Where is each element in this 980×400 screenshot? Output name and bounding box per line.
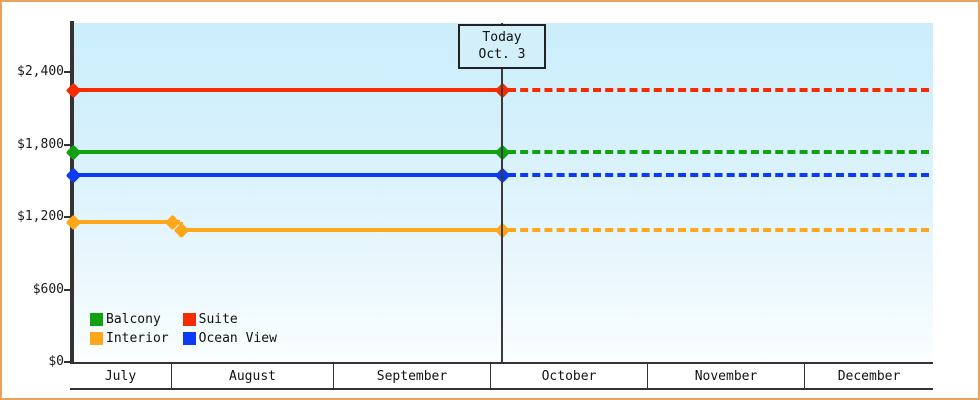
series-line-interior <box>181 228 504 232</box>
y-axis-label-wrap: $1,200 <box>2 210 64 224</box>
x-axis-month-october[interactable]: October <box>491 364 648 388</box>
series-projection-ocean-view <box>508 173 929 177</box>
x-axis-month-december[interactable]: December <box>805 364 933 388</box>
y-axis-label-wrap: $600 <box>2 283 64 297</box>
legend-swatch-ocean-view <box>183 332 196 345</box>
series-line-interior <box>73 220 172 224</box>
y-axis-tick <box>64 71 72 73</box>
legend-item-suite[interactable]: Suite <box>183 312 277 327</box>
y-axis-tick-label: $0 <box>2 355 64 368</box>
legend-swatch-interior <box>90 332 103 345</box>
y-axis-tick <box>64 144 72 146</box>
today-vertical-line <box>501 23 503 362</box>
series-line-ocean-view <box>73 173 503 177</box>
y-axis-label-wrap: $1,800 <box>2 138 64 152</box>
legend-label-suite: Suite <box>199 312 238 327</box>
legend-item-interior[interactable]: Interior <box>90 331 169 346</box>
today-label-line2: Oct. 3 <box>470 46 534 63</box>
y-axis-tick <box>64 361 72 363</box>
x-axis-month-july[interactable]: July <box>70 364 172 388</box>
x-axis-month-september[interactable]: September <box>334 364 491 388</box>
y-axis-label-wrap: $0 <box>2 355 64 369</box>
legend-label-ocean-view: Ocean View <box>199 331 277 346</box>
series-projection-balcony <box>508 150 929 154</box>
chart-legend: BalconySuiteInteriorOcean View <box>90 312 277 346</box>
y-axis-tick-label: $600 <box>2 283 64 296</box>
today-annotation-box: Today Oct. 3 <box>458 24 546 69</box>
y-axis-tick-label: $1,200 <box>2 210 64 223</box>
legend-label-interior: Interior <box>106 331 169 346</box>
price-trend-chart: $0$600$1,200$1,800$2,400 Today Oct. 3 Ba… <box>0 0 980 400</box>
x-axis-month-row: JulyAugustSeptemberOctoberNovemberDecemb… <box>70 364 933 390</box>
y-axis-label-wrap: $2,400 <box>2 65 64 79</box>
today-label-line1: Today <box>470 29 534 46</box>
series-line-balcony <box>73 150 503 154</box>
legend-swatch-balcony <box>90 313 103 326</box>
y-axis-tick <box>64 289 72 291</box>
x-axis-month-august[interactable]: August <box>172 364 334 388</box>
y-axis-tick-label: $1,800 <box>2 138 64 151</box>
legend-label-balcony: Balcony <box>106 312 161 327</box>
y-axis-tick-label: $2,400 <box>2 65 64 78</box>
series-projection-interior <box>508 228 929 232</box>
legend-swatch-suite <box>183 313 196 326</box>
legend-item-balcony[interactable]: Balcony <box>90 312 169 327</box>
x-axis-month-november[interactable]: November <box>648 364 805 388</box>
legend-item-ocean-view[interactable]: Ocean View <box>183 331 277 346</box>
series-projection-suite <box>508 88 929 92</box>
series-line-suite <box>73 88 503 92</box>
